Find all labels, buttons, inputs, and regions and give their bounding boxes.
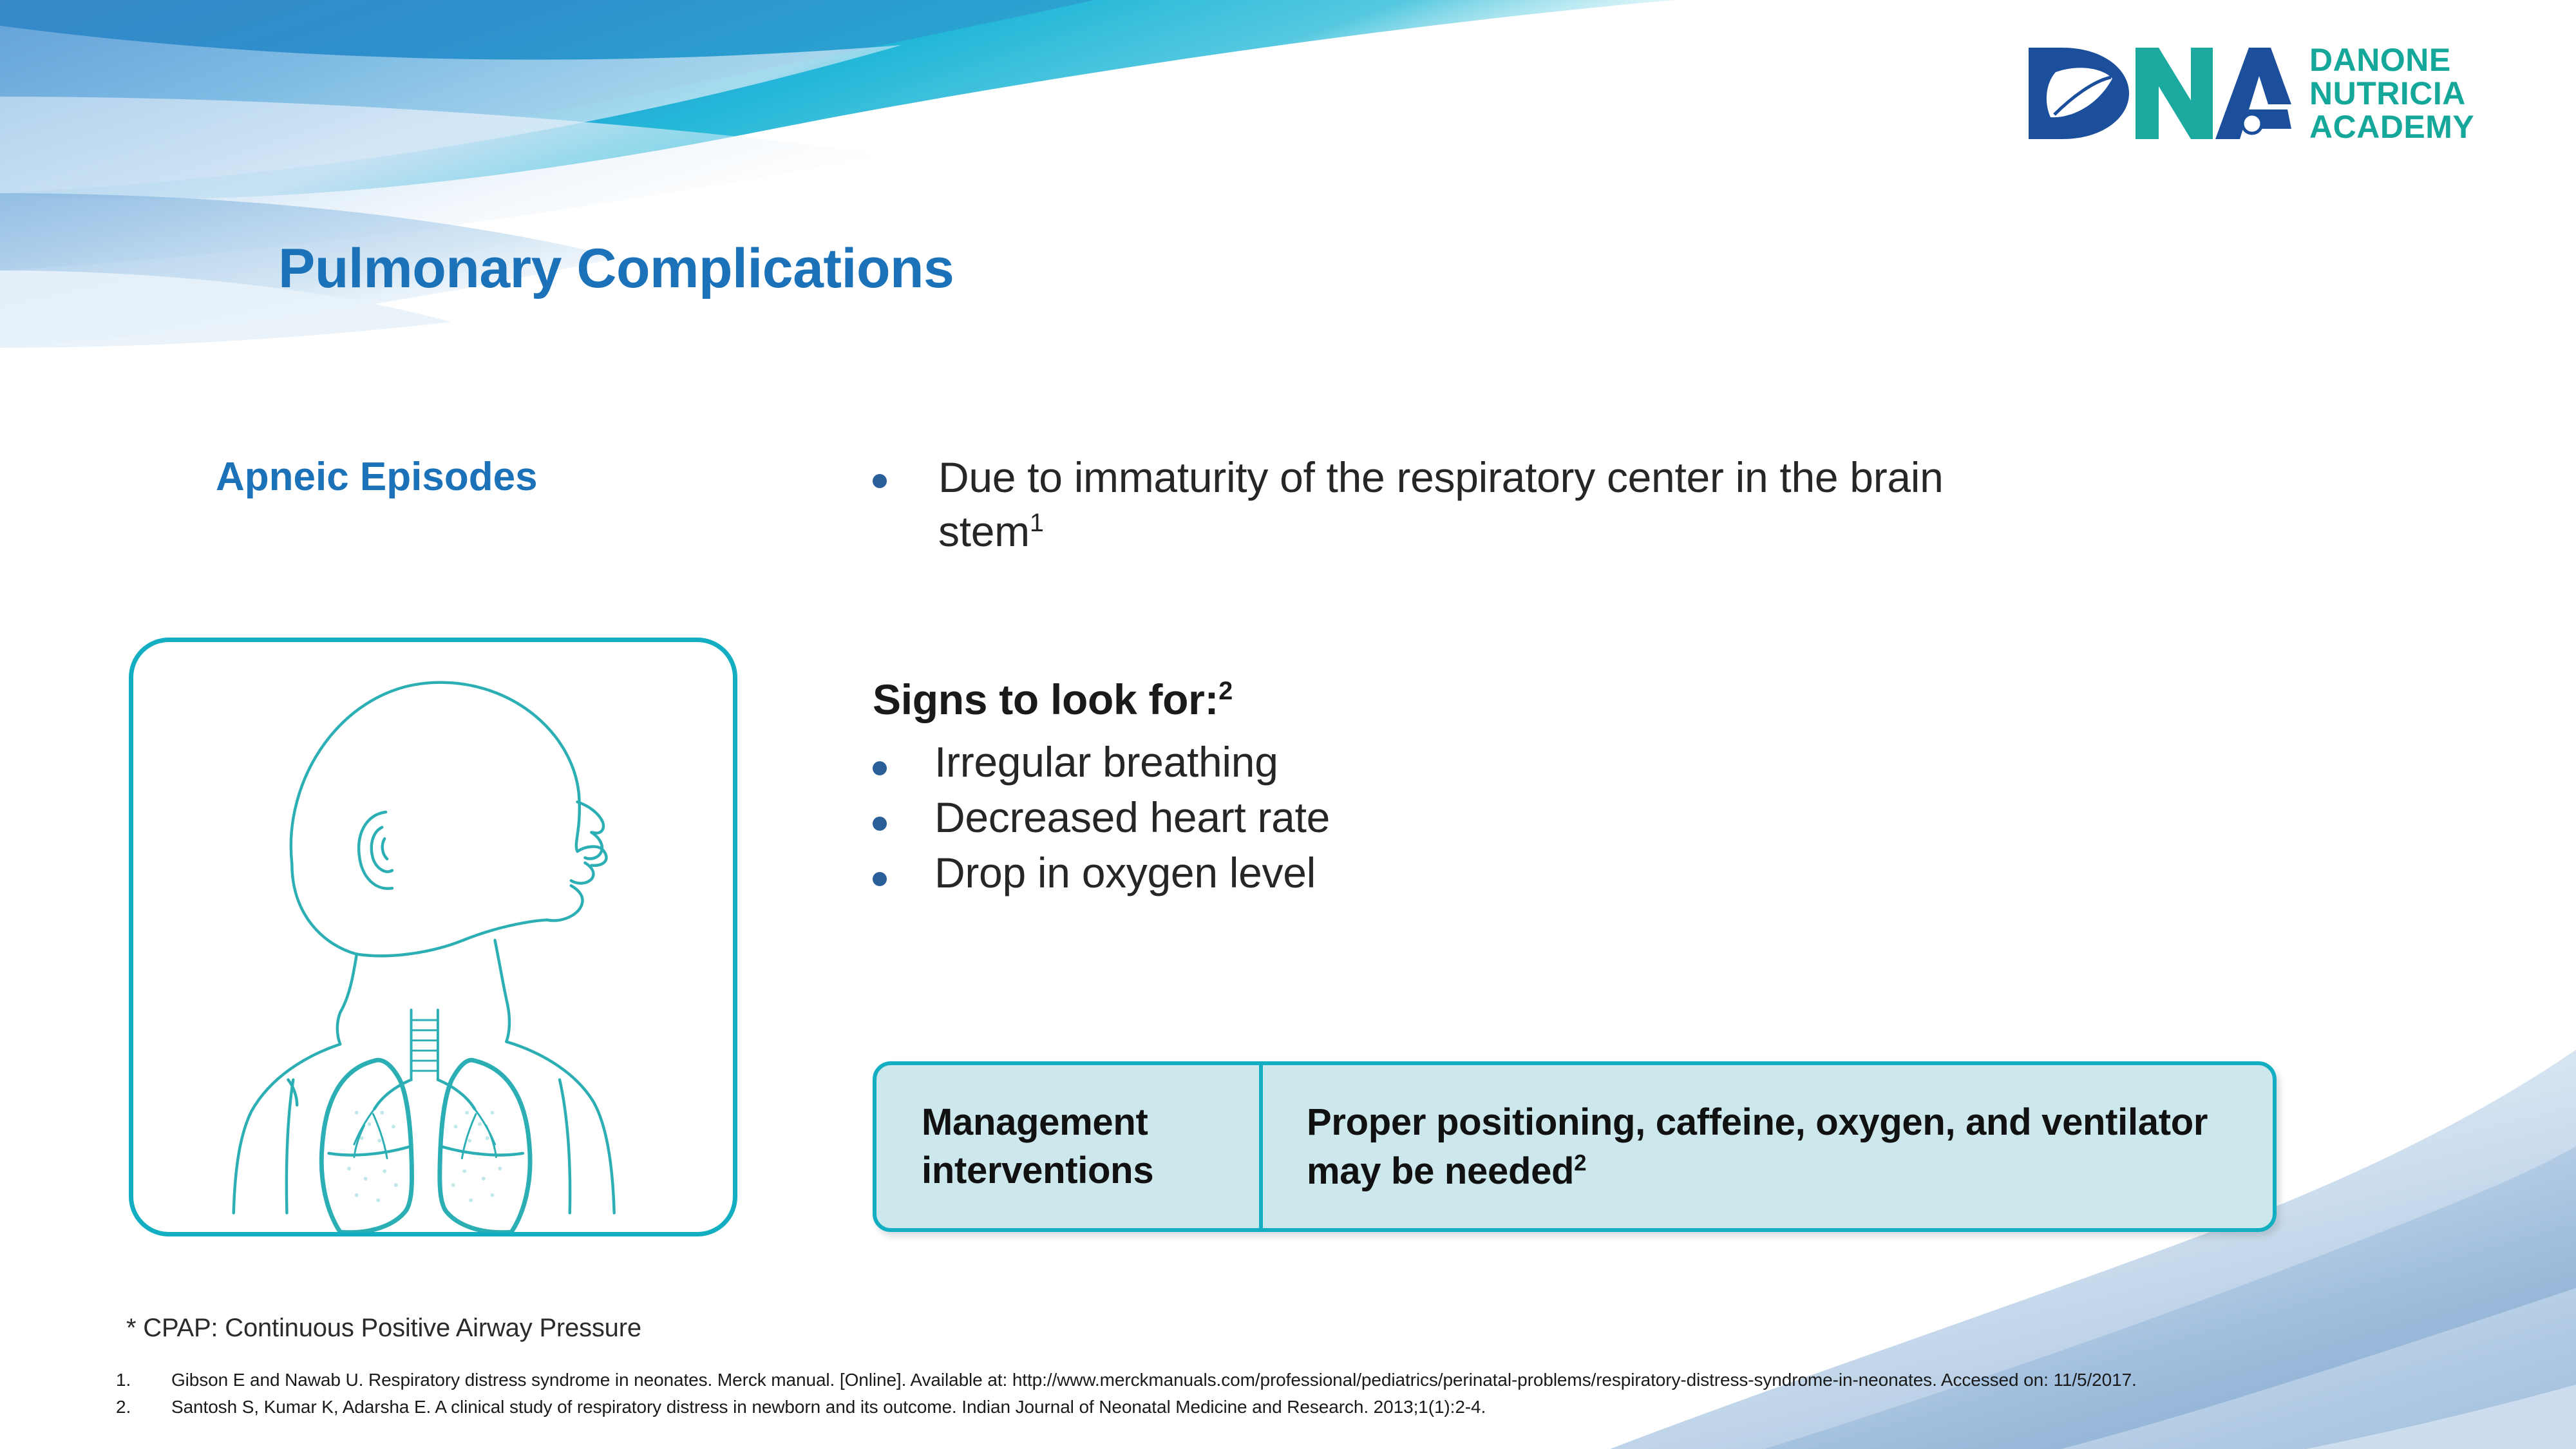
bullet-dot-icon xyxy=(873,761,887,775)
management-value-cell: Proper positioning, caffeine, oxygen, an… xyxy=(1263,1065,2273,1228)
logo-line-3: ACADEMY xyxy=(2309,110,2474,144)
signs-heading: Signs to look for:2 xyxy=(873,675,1233,724)
logo-line-2: NUTRICIA xyxy=(2309,77,2474,110)
reference-number: 1. xyxy=(116,1367,171,1394)
list-item: Due to immaturity of the respiratory cen… xyxy=(873,451,2000,559)
citation-superscript: 2 xyxy=(1218,677,1233,705)
citation-superscript: 2 xyxy=(1574,1150,1586,1175)
lead-bullet-block: Due to immaturity of the respiratory cen… xyxy=(873,451,2000,559)
sign-text-3: Drop in oxygen level xyxy=(934,851,1316,894)
management-label-text: Management interventions xyxy=(922,1099,1259,1194)
reference-item: 2. Santosh S, Kumar K, Adarsha E. A clin… xyxy=(116,1394,2537,1421)
management-value-text: Proper positioning, caffeine, oxygen, an… xyxy=(1307,1098,2273,1195)
dna-logo-wordmark: DANONE NUTRICIA ACADEMY xyxy=(2309,43,2474,144)
management-interventions-box: Management interventions Proper position… xyxy=(873,1061,2277,1232)
section-subheading: Apneic Episodes xyxy=(216,454,538,500)
sign-text-2: Decreased heart rate xyxy=(934,796,1330,838)
dna-logo: DANONE NUTRICIA ACADEMY xyxy=(2022,35,2531,151)
page-title: Pulmonary Complications xyxy=(278,237,954,301)
bullet-dot-icon xyxy=(873,817,887,831)
dna-logo-mark-icon xyxy=(2022,39,2293,148)
reference-text: Gibson E and Nawab U. Respiratory distre… xyxy=(171,1367,2537,1394)
list-item: Drop in oxygen level xyxy=(873,851,1903,894)
logo-line-1: DANONE xyxy=(2309,43,2474,77)
bullet-dot-icon xyxy=(873,872,887,886)
reference-item: 1. Gibson E and Nawab U. Respiratory dis… xyxy=(116,1367,2537,1394)
list-item: Irregular breathing xyxy=(873,741,1903,783)
reference-text: Santosh S, Kumar K, Adarsha E. A clinica… xyxy=(171,1394,2537,1421)
reference-number: 2. xyxy=(116,1394,171,1421)
signs-list: Irregular breathing Decreased heart rate… xyxy=(873,741,1903,907)
lead-bullet-text: Due to immaturity of the respiratory cen… xyxy=(938,451,2000,559)
list-item: Decreased heart rate xyxy=(873,796,1903,838)
reference-list: 1. Gibson E and Nawab U. Respiratory dis… xyxy=(116,1367,2537,1421)
abbreviation-note: * CPAP: Continuous Positive Airway Press… xyxy=(126,1314,641,1343)
bullet-dot-icon xyxy=(873,474,887,488)
citation-superscript: 1 xyxy=(1030,509,1044,537)
infant-head-and-lungs-icon xyxy=(133,642,733,1232)
infant-lungs-figure-frame xyxy=(129,638,737,1236)
management-label-cell: Management interventions xyxy=(876,1065,1263,1228)
sign-text-1: Irregular breathing xyxy=(934,741,1278,783)
